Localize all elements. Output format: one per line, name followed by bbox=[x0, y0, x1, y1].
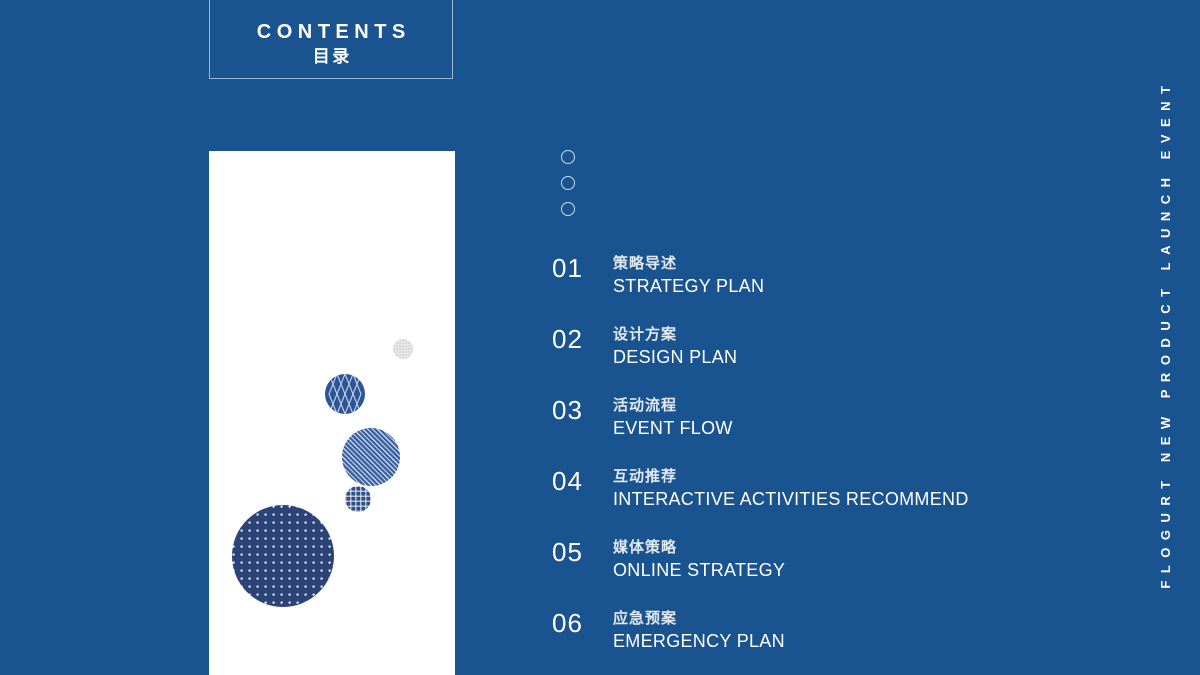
slide-root: CONTENTS 目录 bbox=[0, 0, 1200, 675]
list-item-body: 应急预案 EMERGENCY PLAN bbox=[613, 608, 785, 652]
list-item-chinese: 活动流程 bbox=[613, 395, 733, 417]
list-item-body: 策略导述 STRATEGY PLAN bbox=[613, 253, 764, 297]
list-item-english: INTERACTIVE ACTIVITIES RECOMMEND bbox=[613, 488, 969, 511]
list-item-english: ONLINE STRATEGY bbox=[613, 559, 785, 582]
list-item-chinese: 应急预案 bbox=[613, 608, 785, 630]
list-item-number: 04 bbox=[552, 468, 583, 494]
list-item-body: 互动推荐 INTERACTIVE ACTIVITIES RECOMMEND bbox=[613, 466, 969, 510]
list-item[interactable]: 03 活动流程 EVENT FLOW bbox=[552, 397, 952, 468]
list-item-english: EMERGENCY PLAN bbox=[613, 630, 785, 653]
list-item[interactable]: 06 应急预案 EMERGENCY PLAN bbox=[552, 610, 952, 675]
list-item-chinese: 互动推荐 bbox=[613, 466, 969, 488]
list-item-number: 03 bbox=[552, 397, 583, 423]
ring-decoration-group bbox=[561, 150, 575, 228]
contents-title-box: CONTENTS 目录 bbox=[209, 0, 453, 79]
wave-circle-icon bbox=[325, 374, 365, 414]
plaid-circle-icon bbox=[345, 486, 371, 512]
list-item-number: 05 bbox=[552, 539, 583, 565]
ring-icon-2 bbox=[561, 176, 575, 190]
list-item[interactable]: 01 策略导述 STRATEGY PLAN bbox=[552, 255, 952, 326]
gray-halftone-circle-icon bbox=[393, 339, 413, 359]
ring-icon-3 bbox=[561, 202, 575, 216]
list-item[interactable]: 02 设计方案 DESIGN PLAN bbox=[552, 326, 952, 397]
list-item-chinese: 设计方案 bbox=[613, 324, 737, 346]
list-item-number: 06 bbox=[552, 610, 583, 636]
list-item-english: STRATEGY PLAN bbox=[613, 275, 764, 298]
list-item-body: 设计方案 DESIGN PLAN bbox=[613, 324, 737, 368]
diagonal-stripe-circle-icon bbox=[342, 428, 400, 486]
list-item-english: EVENT FLOW bbox=[613, 417, 733, 440]
list-item-number: 02 bbox=[552, 326, 583, 352]
list-item-english: DESIGN PLAN bbox=[613, 346, 737, 369]
page-title-english: CONTENTS bbox=[251, 20, 411, 45]
list-item-chinese: 策略导述 bbox=[613, 253, 764, 275]
vertical-event-label: FLOGURT NEW PRODUCT LAUNCH EVENT bbox=[1130, 0, 1200, 675]
ring-icon-1 bbox=[561, 150, 575, 164]
decorative-white-panel bbox=[209, 151, 455, 675]
dot-grid-circle-icon bbox=[232, 505, 334, 607]
vertical-event-label-text: FLOGURT NEW PRODUCT LAUNCH EVENT bbox=[1158, 79, 1173, 597]
list-item[interactable]: 04 互动推荐 INTERACTIVE ACTIVITIES RECOMMEND bbox=[552, 468, 952, 539]
page-title-chinese: 目录 bbox=[310, 46, 352, 69]
list-item-body: 媒体策略 ONLINE STRATEGY bbox=[613, 537, 785, 581]
list-item-body: 活动流程 EVENT FLOW bbox=[613, 395, 733, 439]
list-item[interactable]: 05 媒体策略 ONLINE STRATEGY bbox=[552, 539, 952, 610]
contents-list: 01 策略导述 STRATEGY PLAN 02 设计方案 DESIGN PLA… bbox=[552, 255, 952, 675]
list-item-number: 01 bbox=[552, 255, 583, 281]
list-item-chinese: 媒体策略 bbox=[613, 537, 785, 559]
